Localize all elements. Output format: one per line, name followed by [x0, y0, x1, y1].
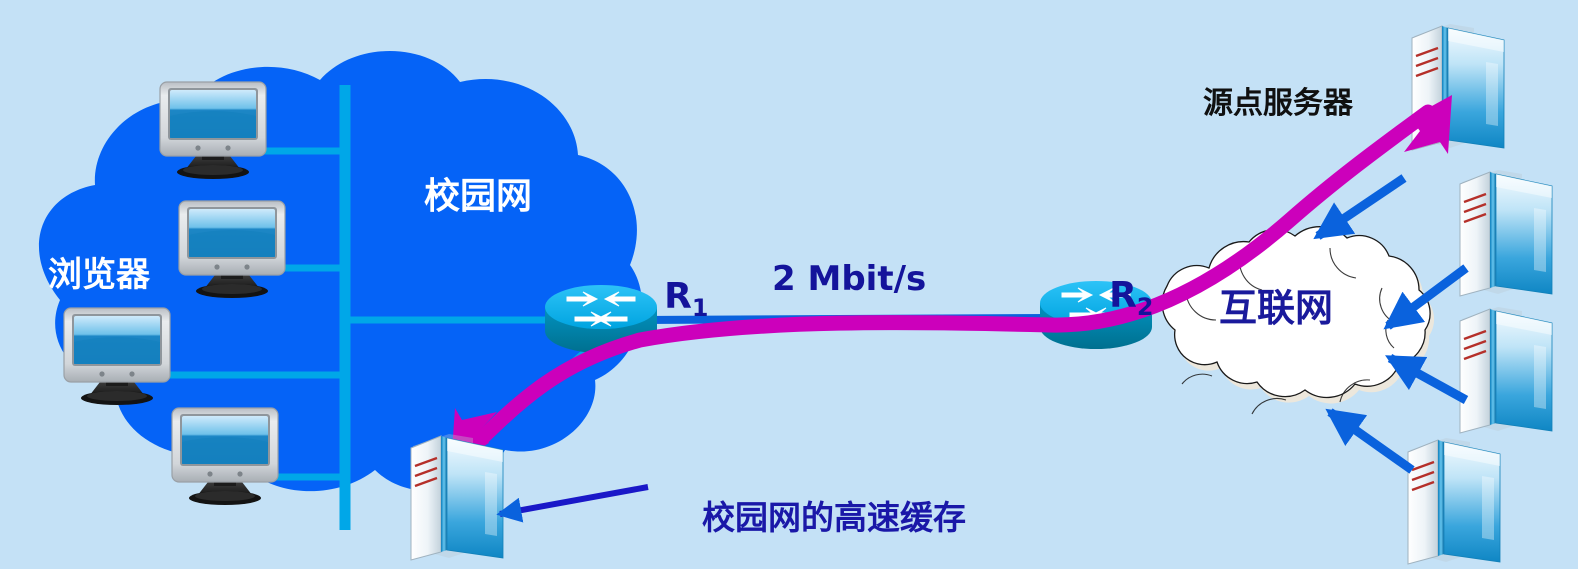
router-r1-subscript: 1	[692, 294, 709, 322]
label-router-r2: R2	[1059, 239, 1153, 358]
label-origin-server: 源点服务器	[1203, 88, 1353, 120]
label-campus-network: 校园网	[424, 178, 532, 216]
origin-server-4	[1408, 438, 1500, 564]
label-link-speed: 2 Mbit/s	[772, 262, 926, 298]
label-cache-proxy: 校园网的高速缓存 （代理服务器）	[656, 466, 966, 569]
network-diagram: 浏览器 校园网 互联网 源点服务器 校园网的高速缓存 （代理服务器） R1 R2…	[0, 0, 1578, 569]
router-r2-name: R	[1109, 275, 1137, 316]
router-r2-subscript: 2	[1137, 293, 1154, 321]
cache-proxy-server	[411, 434, 503, 560]
router-r1-name: R	[664, 276, 692, 317]
cache-callout-arrow	[500, 487, 648, 514]
origin-server-3	[1460, 307, 1552, 433]
label-internet: 互联网	[1219, 289, 1333, 329]
origin-server-2	[1460, 170, 1552, 296]
label-browsers: 浏览器	[48, 258, 150, 294]
label-router-r1: R1	[614, 240, 708, 359]
browser-monitor-4	[172, 408, 278, 505]
label-cache-line1: 校园网的高速缓存	[702, 498, 966, 537]
